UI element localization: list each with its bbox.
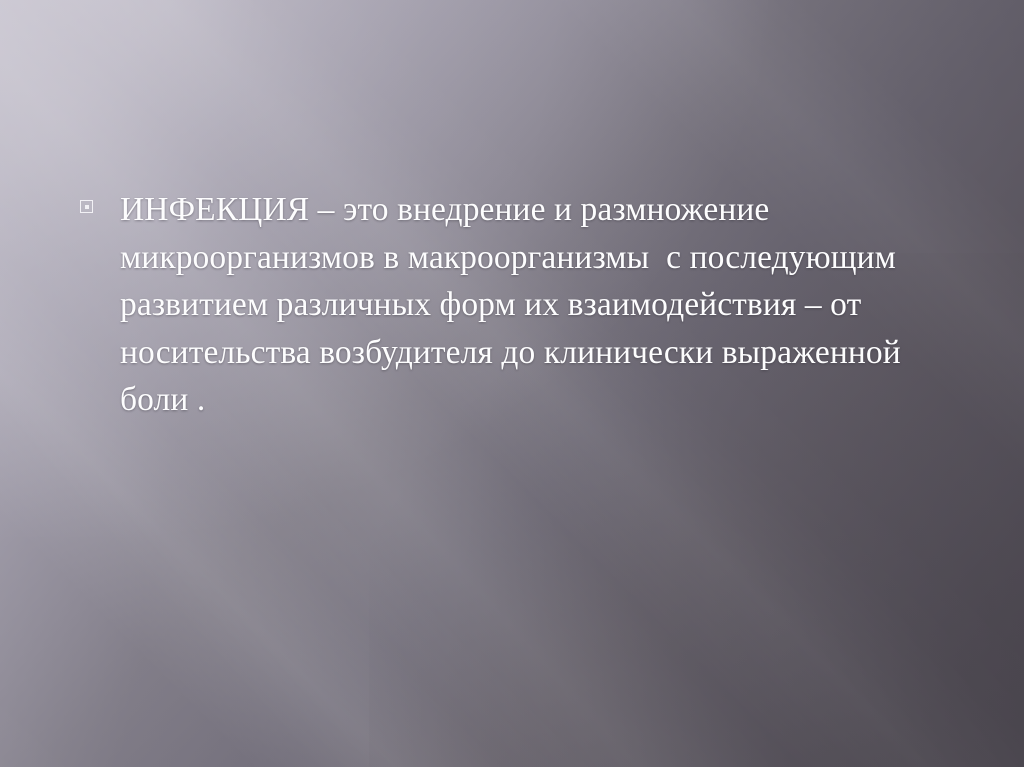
presentation-slide: ИНФЕКЦИЯ – это внедрение и размножение м…: [0, 0, 1024, 767]
bullet-marker-cell: [80, 186, 120, 213]
slide-body-text: ИНФЕКЦИЯ – это внедрение и размножение м…: [120, 186, 960, 424]
slide-content-block: ИНФЕКЦИЯ – это внедрение и размножение м…: [80, 186, 960, 424]
square-in-square-bullet-icon: [80, 200, 93, 213]
